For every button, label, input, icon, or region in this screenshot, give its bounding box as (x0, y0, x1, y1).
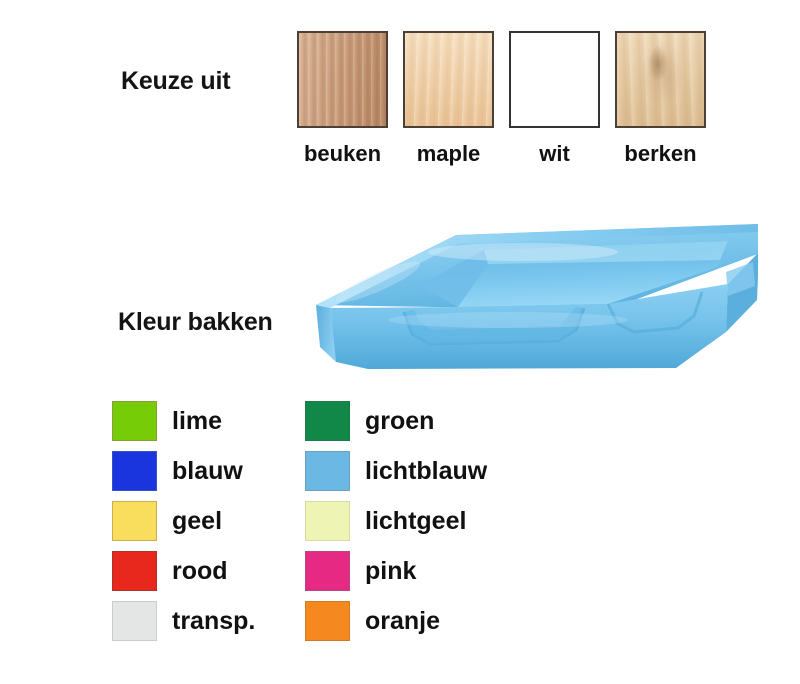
color-option-geel[interactable]: geel (112, 501, 305, 541)
color-swatch-pink-icon[interactable] (305, 551, 350, 591)
color-swatch-lichtblauw-icon[interactable] (305, 451, 350, 491)
color-option-label: oranje (365, 607, 440, 636)
color-option-label: rood (172, 557, 228, 586)
color-option-transp[interactable]: transp. (112, 601, 305, 641)
tray-color-grid: lime groen blauw lichtblauw geel lichtge… (112, 396, 487, 646)
color-option-lichtgeel[interactable]: lichtgeel (305, 501, 487, 541)
wood-swatch-wit-icon[interactable] (509, 31, 600, 128)
color-option-label: transp. (172, 607, 255, 636)
color-option-label: lime (172, 407, 222, 436)
color-swatch-transp-icon[interactable] (112, 601, 157, 641)
color-option-label: blauw (172, 457, 243, 486)
color-swatch-groen-icon[interactable] (305, 401, 350, 441)
finish-option-berken[interactable]: berken (615, 31, 706, 167)
finish-option-wit[interactable]: wit (509, 31, 600, 167)
product-options-panel: Keuze uit beuken maple wit berken (0, 0, 800, 684)
finish-section-heading: Keuze uit (121, 67, 230, 96)
wood-swatch-berken-icon[interactable] (615, 31, 706, 128)
color-option-blauw[interactable]: blauw (112, 451, 305, 491)
finish-option-label: beuken (304, 141, 381, 167)
color-option-label: lichtblauw (365, 457, 487, 486)
tray-product-photo (308, 212, 758, 370)
color-option-label: groen (365, 407, 434, 436)
finish-swatch-row: beuken maple wit berken (297, 31, 706, 167)
wood-swatch-maple-icon[interactable] (403, 31, 494, 128)
color-option-groen[interactable]: groen (305, 401, 487, 441)
color-swatch-geel-icon[interactable] (112, 501, 157, 541)
color-swatch-rood-icon[interactable] (112, 551, 157, 591)
color-option-label: pink (365, 557, 416, 586)
color-option-pink[interactable]: pink (305, 551, 487, 591)
color-option-rood[interactable]: rood (112, 551, 305, 591)
tray-illustration-icon (308, 212, 758, 370)
color-option-lichtblauw[interactable]: lichtblauw (305, 451, 487, 491)
finish-option-label: maple (417, 141, 481, 167)
color-option-label: geel (172, 507, 222, 536)
color-swatch-blauw-icon[interactable] (112, 451, 157, 491)
color-option-lime[interactable]: lime (112, 401, 305, 441)
finish-option-maple[interactable]: maple (403, 31, 494, 167)
color-swatch-lichtgeel-icon[interactable] (305, 501, 350, 541)
color-swatch-oranje-icon[interactable] (305, 601, 350, 641)
color-swatch-lime-icon[interactable] (112, 401, 157, 441)
finish-option-beuken[interactable]: beuken (297, 31, 388, 167)
color-option-label: lichtgeel (365, 507, 466, 536)
color-option-oranje[interactable]: oranje (305, 601, 487, 641)
tray-color-section-heading: Kleur bakken (118, 308, 273, 337)
finish-option-label: wit (539, 141, 570, 167)
finish-option-label: berken (624, 141, 696, 167)
wood-swatch-beuken-icon[interactable] (297, 31, 388, 128)
